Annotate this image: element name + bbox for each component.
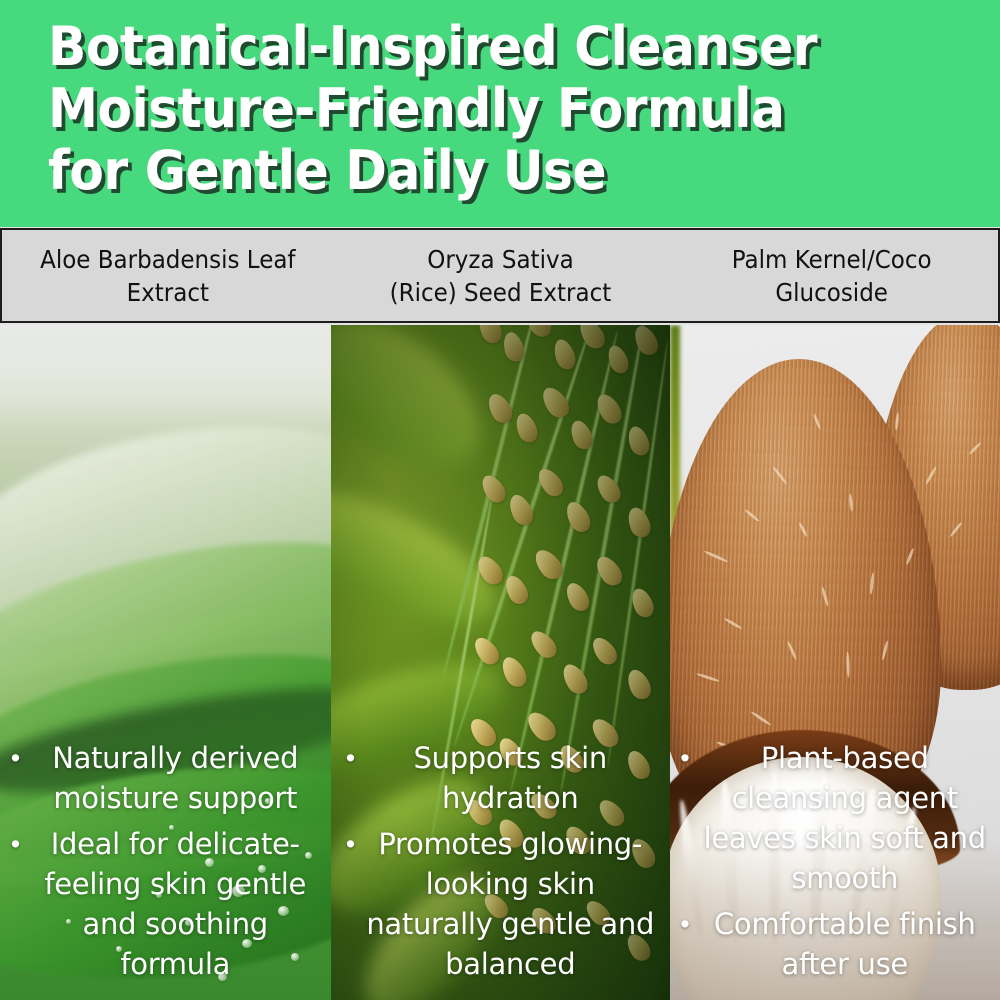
coconut-bullet-list: • Plant-based cleansing agent leaves ski… — [670, 732, 1000, 1000]
ingredient-name-cell-aloe: Aloe Barbadensis Leaf Extract — [2, 230, 334, 321]
bullet-text: Comfortable finish after use — [700, 904, 990, 984]
list-item: • Comfortable finish after use — [676, 904, 994, 984]
ingredient-column-coconut: • Plant-based cleansing agent leaves ski… — [670, 325, 1000, 1000]
list-item: • Naturally derived moisture support — [6, 738, 325, 818]
bullet-dot-icon: • — [346, 824, 355, 864]
bullet-text: Promotes glowing-looking skin naturally … — [365, 824, 655, 984]
ingredient-name-label: Aloe Barbadensis Leaf Extract — [40, 243, 295, 309]
list-item: • Supports skin hydration — [337, 738, 664, 818]
bullet-dot-icon: • — [346, 738, 355, 778]
ingredient-name-cell-coco: Palm Kernel/Coco Glucoside — [666, 230, 998, 321]
ingredient-columns: • Naturally derived moisture support • I… — [0, 325, 1000, 1000]
ingredient-name-strip: Aloe Barbadensis Leaf Extract Oryza Sati… — [0, 228, 1000, 323]
list-item: • Promotes glowing-looking skin naturall… — [337, 824, 664, 984]
ingredient-column-aloe: • Naturally derived moisture support • I… — [0, 325, 331, 1000]
ingredient-infographic: Botanical-Inspired Cleanser Moisture-Fri… — [0, 0, 1000, 1000]
ingredient-column-rice: • Supports skin hydration • Promotes glo… — [331, 325, 670, 1000]
aloe-bullet-list: • Naturally derived moisture support • I… — [0, 732, 331, 1000]
rice-bullet-list: • Supports skin hydration • Promotes glo… — [331, 732, 670, 1000]
bullet-dot-icon: • — [680, 738, 689, 778]
ingredient-name-label: Palm Kernel/Coco Glucoside — [732, 243, 932, 309]
bullet-dot-icon: • — [680, 904, 689, 944]
bullet-text: Supports skin hydration — [365, 738, 655, 818]
ingredient-name-cell-rice: Oryza Sativa (Rice) Seed Extract — [334, 230, 666, 321]
bullet-text: Ideal for delicate-feeling skin gentle a… — [30, 824, 320, 984]
bullet-dot-icon: • — [11, 824, 20, 864]
ingredient-name-label: Oryza Sativa (Rice) Seed Extract — [389, 243, 611, 309]
bullet-text: Naturally derived moisture support — [30, 738, 320, 818]
list-item: • Plant-based cleansing agent leaves ski… — [676, 738, 994, 898]
header-banner: Botanical-Inspired Cleanser Moisture-Fri… — [0, 0, 1000, 227]
bullet-text: Plant-based cleansing agent leaves skin … — [700, 738, 990, 898]
list-item: • Ideal for delicate-feeling skin gentle… — [6, 824, 325, 984]
page-title: Botanical-Inspired Cleanser Moisture-Fri… — [48, 16, 885, 202]
bullet-dot-icon: • — [11, 738, 20, 778]
